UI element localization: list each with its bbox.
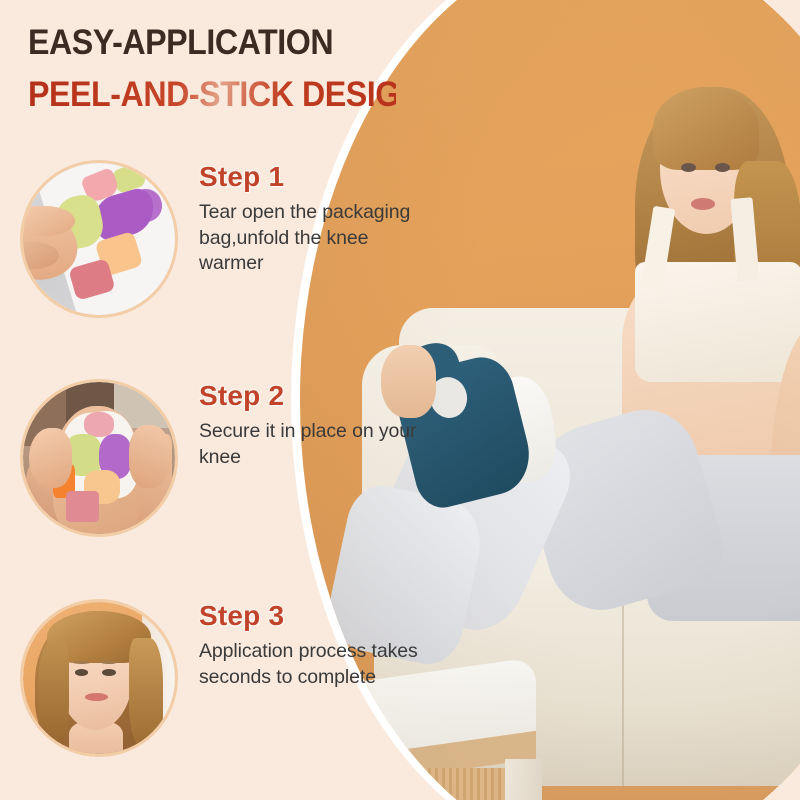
step-item-1: Step 1 Tear open the packaging bag,unfol… xyxy=(20,160,431,318)
step-2-patch-pink xyxy=(84,412,114,436)
model-eye-left xyxy=(681,163,695,172)
side-table-side xyxy=(505,759,542,800)
step-1-text: Step 1 Tear open the packaging bag,unfol… xyxy=(199,160,431,277)
step-2-hand-right xyxy=(129,425,172,489)
step-2-text: Step 2 Secure it in place on your knee xyxy=(199,379,431,470)
step-2-description: Secure it in place on your knee xyxy=(199,419,431,470)
step-1-photo-patches xyxy=(23,163,175,315)
step-1-title: Step 1 xyxy=(199,163,431,191)
step-3-hair-strand-right xyxy=(129,638,162,747)
step-3-title: Step 3 xyxy=(199,602,431,630)
headline-block: EASY-APPLICATION PEEL-AND-STICK DESIGN xyxy=(28,22,428,116)
step-3-text: Step 3 Application process takes seconds… xyxy=(199,599,431,690)
step-item-3: Step 3 Application process takes seconds… xyxy=(20,599,431,757)
step-3-photo-portrait xyxy=(23,602,175,754)
model-eye-right xyxy=(715,163,729,172)
step-1-thumbnail xyxy=(20,160,178,318)
model-hair-front xyxy=(653,87,758,170)
step-2-photo-knee xyxy=(23,382,175,534)
infographic-poster: EASY-APPLICATION PEEL-AND-STICK DESIGN xyxy=(0,0,800,800)
step-1-description: Tear open the packaging bag,unfold the k… xyxy=(199,200,431,277)
headline-line-1: EASY-APPLICATION xyxy=(28,22,396,63)
step-3-description: Application process takes seconds to com… xyxy=(199,639,431,690)
step-3-thumbnail xyxy=(20,599,178,757)
side-table-body xyxy=(312,768,523,800)
step-3-eye-right xyxy=(102,669,116,676)
step-2-patch-rose xyxy=(66,491,99,521)
step-3-lips xyxy=(85,693,108,701)
model-lips xyxy=(691,198,716,210)
step-2-thumbnail xyxy=(20,379,178,537)
step-2-hand-left xyxy=(29,428,72,489)
step-2-title: Step 2 xyxy=(199,382,431,410)
step-item-2: Step 2 Secure it in place on your knee xyxy=(20,379,431,537)
step-3-eye-left xyxy=(75,669,89,676)
headline-line-2: PEEL-AND-STICK DESIGN xyxy=(28,74,396,115)
step-3-hair-strand-left xyxy=(38,642,68,748)
